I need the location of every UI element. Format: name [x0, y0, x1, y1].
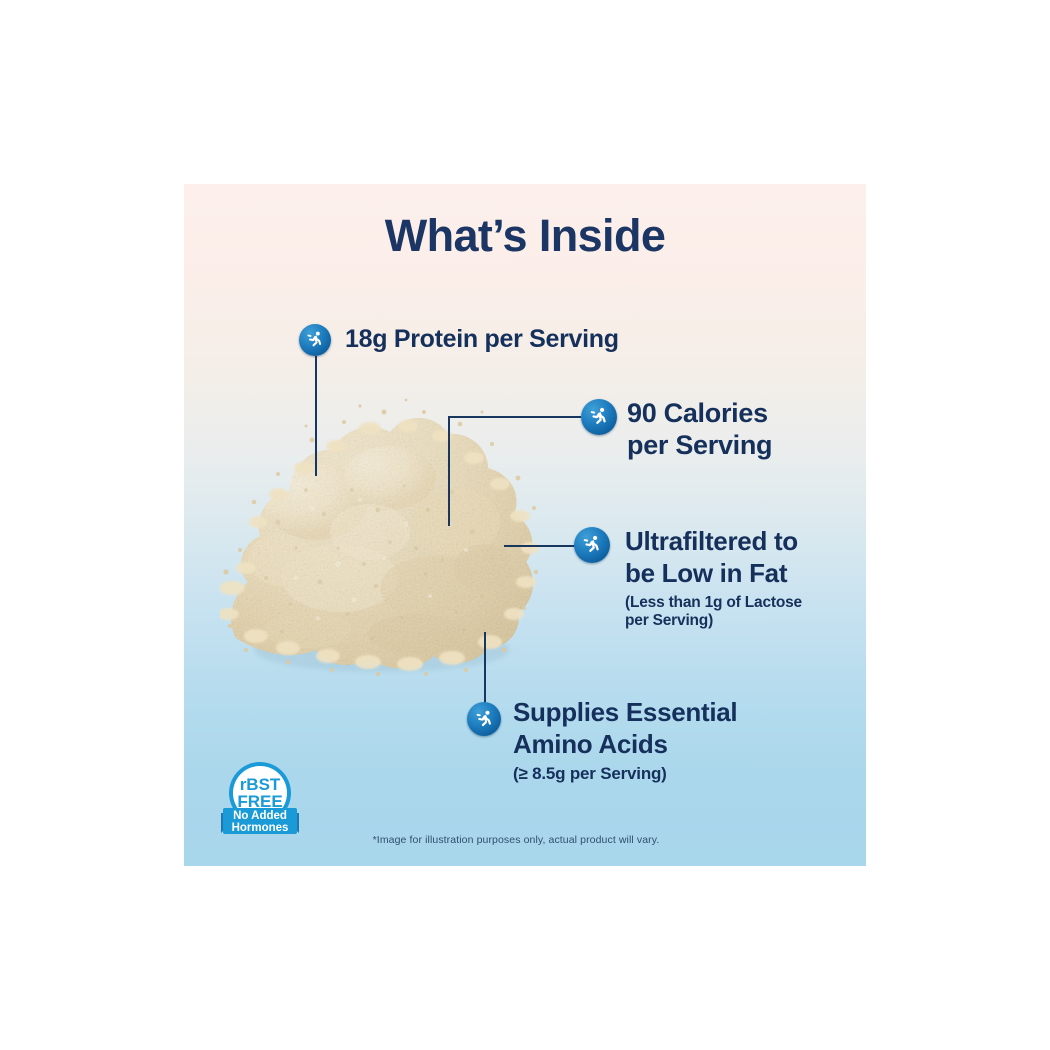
callout-1-title: 18g Protein per Serving [345, 325, 675, 354]
infographic-stage: What’s Inside [0, 0, 1050, 1050]
rbst-free-badge: rBST FREE No Added Hormones [217, 757, 303, 841]
callout-3-sub-line-1: (Less than 1g of Lactose [625, 594, 866, 613]
disclaimer-text: *Image for illustration purposes only, a… [184, 834, 866, 846]
callout-3-title-line-1: Ultrafiltered to [625, 526, 866, 556]
runner-icon-2 [581, 399, 617, 435]
protein-powder-image [220, 382, 540, 682]
callout-4-title-line-2: Amino Acids [513, 729, 813, 759]
connector-line-2-vertical [448, 416, 450, 526]
runner-icon-3 [574, 527, 610, 563]
connector-line-2-horizontal [448, 416, 581, 418]
badge-ribbon-line-1: No Added [233, 810, 287, 822]
runner-icon-4 [467, 702, 501, 736]
callout-2-title-line-2: per Serving [627, 430, 866, 461]
callout-3-sub-line-2: per Serving) [625, 612, 866, 631]
page-title: What’s Inside [184, 210, 866, 262]
callout-4-sub: (≥ 8.5g per Serving) [513, 764, 813, 784]
callout-2-title-line-1: 90 Calories [627, 398, 866, 429]
infographic-canvas: What’s Inside [184, 184, 866, 866]
callout-4-title-line-1: Supplies Essential [513, 697, 813, 727]
badge-ribbon-line-2: Hormones [232, 822, 289, 834]
runner-icon-1 [299, 324, 331, 356]
callout-3-title-line-2: be Low in Fat [625, 558, 866, 588]
connector-line-4 [484, 632, 486, 712]
connector-line-1 [315, 356, 317, 476]
connector-line-3 [504, 545, 584, 547]
